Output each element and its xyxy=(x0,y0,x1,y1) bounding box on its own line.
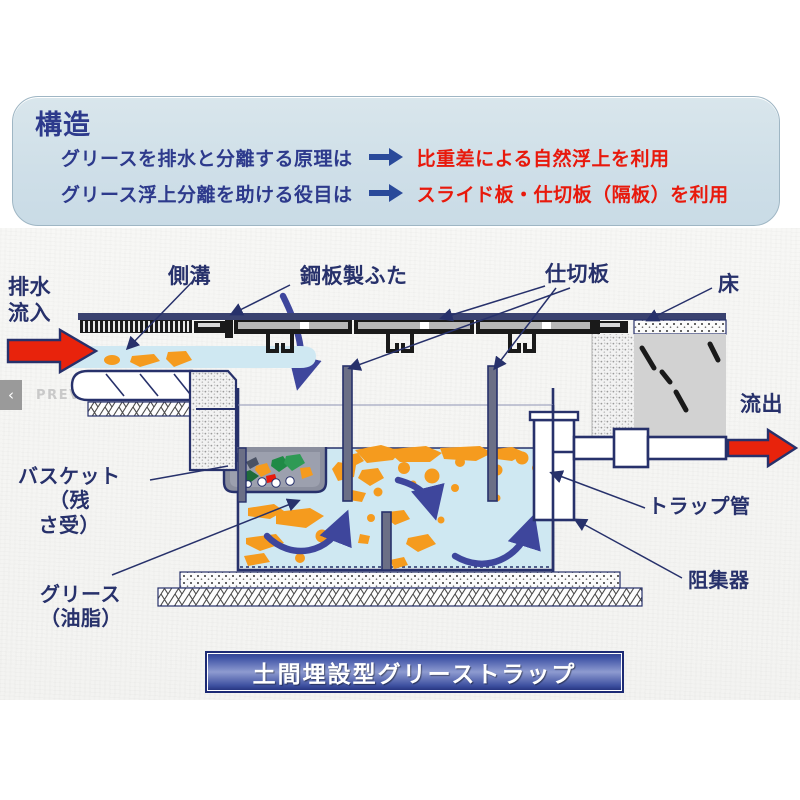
label-side-gutter: 側溝 xyxy=(168,264,211,290)
label-basket: バスケット （残 さ受） xyxy=(18,464,121,537)
label-floor: 床 xyxy=(718,272,740,298)
label-trap-pipe: トラップ管 xyxy=(648,494,751,518)
label-steel-lid: 鋼板製ふた xyxy=(300,264,408,290)
caption-bar: 土間埋設型グリーストラップ xyxy=(205,651,624,693)
label-baffle-plate: 仕切板 xyxy=(545,262,610,288)
outflow-red-arrow xyxy=(728,430,796,466)
slide-canvas: 構造 グリースを排水と分離する原理は 比重差による自然浮上を利用 グリース浮上分… xyxy=(0,0,800,800)
leader-interceptor xyxy=(576,520,682,578)
label-inflow: 排水 流入 xyxy=(8,275,51,326)
caption-text: 土間埋設型グリーストラップ xyxy=(253,655,577,689)
base-pads xyxy=(158,572,642,606)
label-outflow: 流出 xyxy=(740,392,783,418)
floor-slab xyxy=(592,320,726,452)
label-grease: グリース （油脂） xyxy=(40,582,122,631)
label-interceptor: 阻集器 xyxy=(688,568,750,592)
